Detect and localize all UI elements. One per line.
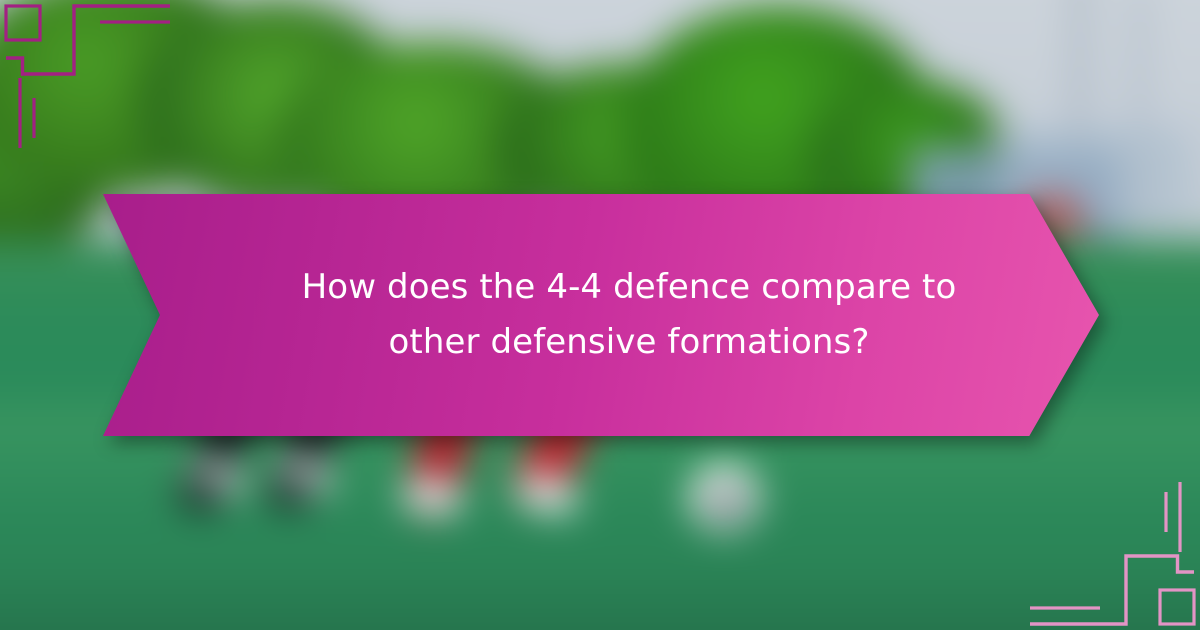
player-shoe-dark — [266, 476, 314, 508]
question-banner-shape: How does the 4-4 defence compare to othe… — [103, 194, 1099, 436]
graphic-canvas: How does the 4-4 defence compare to othe… — [0, 0, 1200, 630]
question-banner: How does the 4-4 defence compare to othe… — [103, 194, 1099, 436]
player-shoe-dark — [178, 478, 226, 510]
question-text: How does the 4-4 defence compare to othe… — [216, 260, 986, 370]
soccer-ball-patch — [709, 488, 741, 515]
pitch-vignette — [0, 562, 1200, 630]
